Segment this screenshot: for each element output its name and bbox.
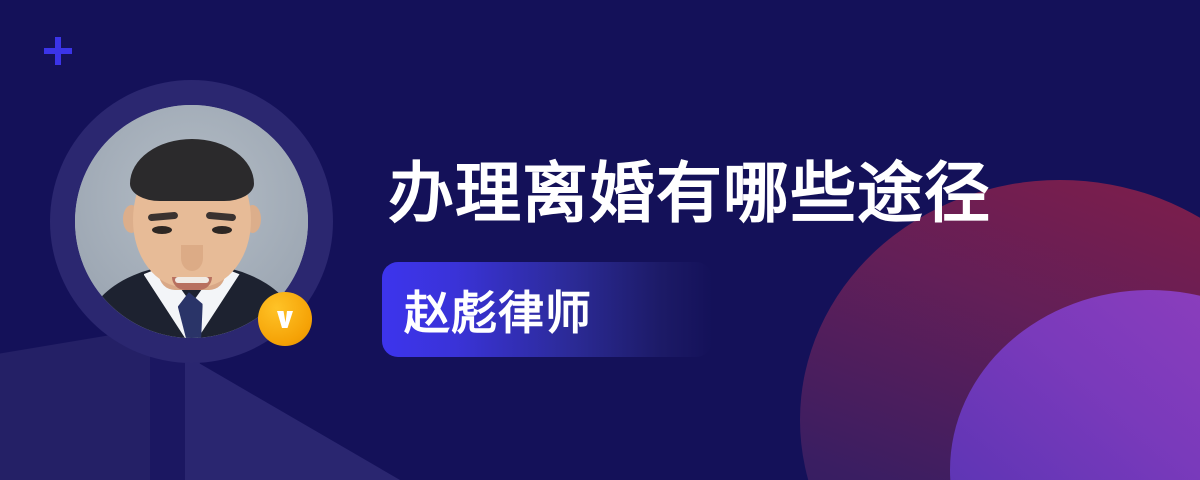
article-cover-banner: 办理离婚有哪些途径 赵彪律师 xyxy=(0,0,1200,480)
author-name-badge: 赵彪律师 xyxy=(382,262,712,357)
page-title: 办理离婚有哪些途径 xyxy=(388,158,991,229)
author-name-label: 赵彪律师 xyxy=(382,277,592,343)
plus-icon xyxy=(43,36,73,66)
decor-seam-band xyxy=(150,352,186,480)
decor-violet-blob xyxy=(950,290,1200,480)
verified-check-icon xyxy=(258,292,312,346)
decor-wedge-triangle xyxy=(185,355,400,480)
